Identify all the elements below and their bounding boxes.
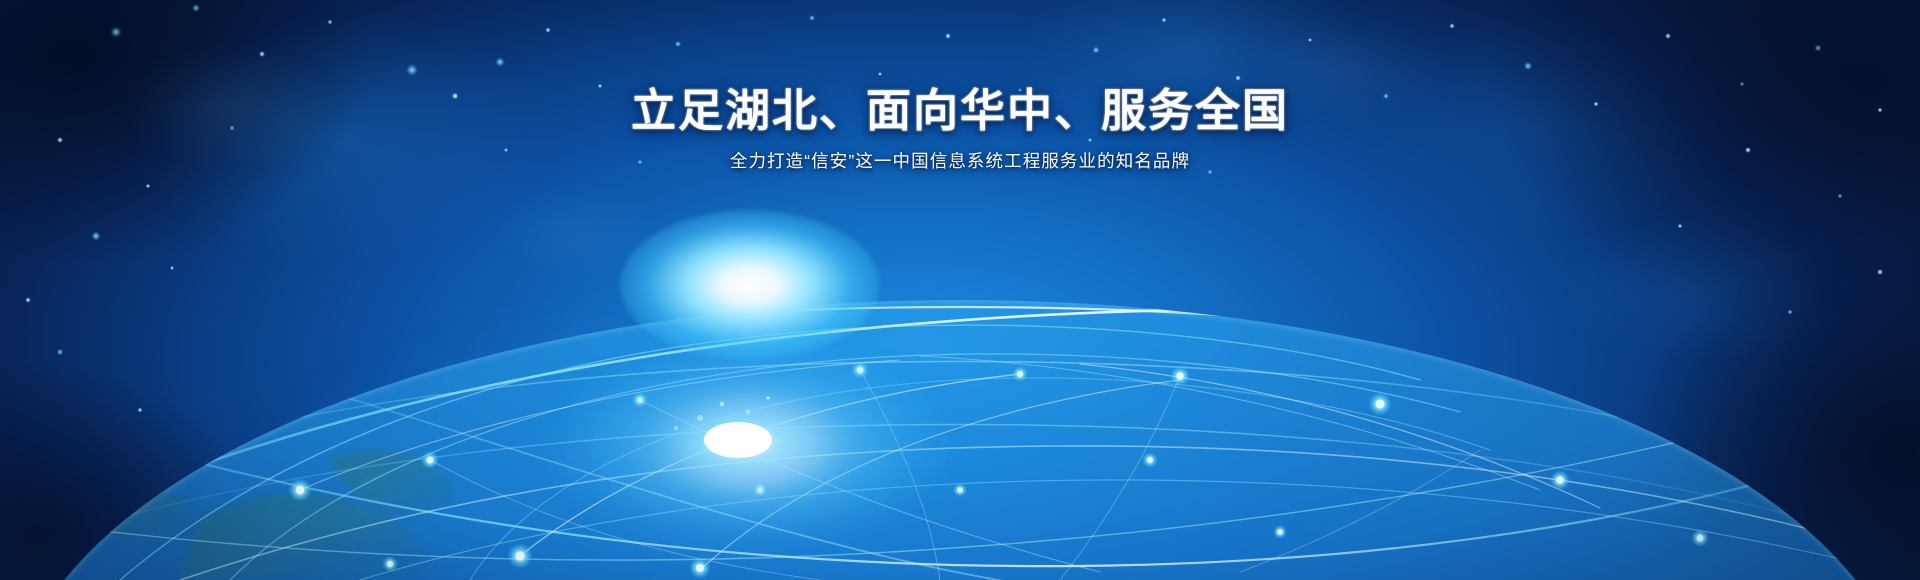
hero-text-block: 立足湖北、面向华中、服务全国 全力打造“信安”这一中国信息系统工程服务业的知名品… (0, 0, 1920, 174)
network-globe (0, 160, 1920, 580)
hero-banner: 立足湖北、面向华中、服务全国 全力打造“信安”这一中国信息系统工程服务业的知名品… (0, 0, 1920, 580)
banner-subtitle: 全力打造“信安”这一中国信息系统工程服务业的知名品牌 (0, 136, 1920, 174)
banner-title: 立足湖北、面向华中、服务全国 (0, 0, 1920, 136)
